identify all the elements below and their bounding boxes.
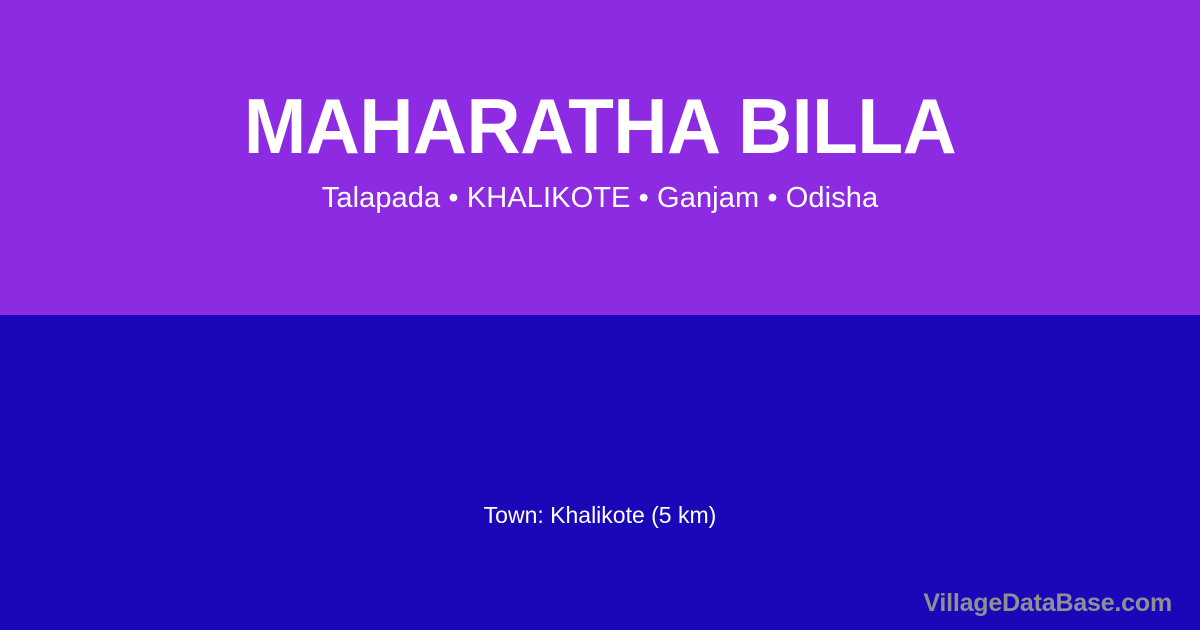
village-info-card: MAHARATHA BILLA Talapada • KHALIKOTE • G… <box>0 0 1200 630</box>
hero-banner: MAHARATHA BILLA Talapada • KHALIKOTE • G… <box>0 0 1200 315</box>
site-watermark: VillageDataBase.com <box>923 588 1172 618</box>
village-title: MAHARATHA BILLA <box>244 86 956 166</box>
nearest-town-text: Town: Khalikote (5 km) <box>0 500 1200 530</box>
location-breadcrumb: Talapada • KHALIKOTE • Ganjam • Odisha <box>322 180 879 216</box>
details-panel: Town: Khalikote (5 km) <box>0 315 1200 630</box>
